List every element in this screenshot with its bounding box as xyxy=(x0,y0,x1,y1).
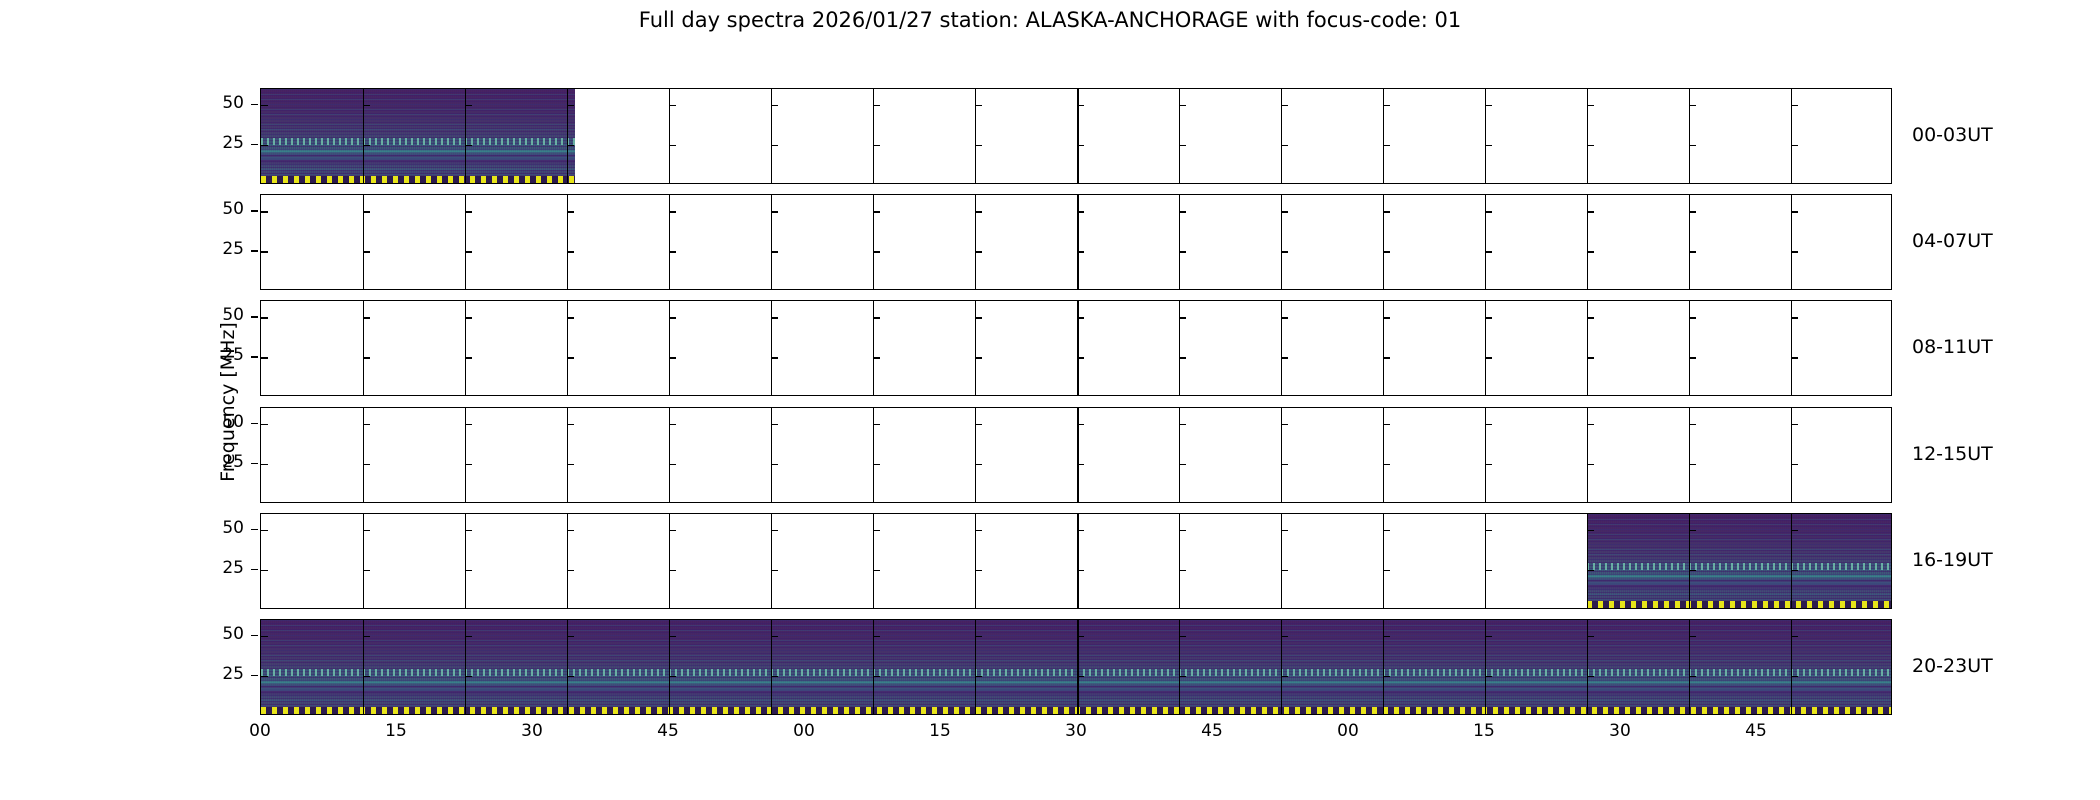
subpanel-divider xyxy=(1281,195,1282,289)
y-axis-tick xyxy=(251,104,258,105)
y-tick-mark xyxy=(975,530,982,531)
y-tick-mark xyxy=(669,676,676,677)
y-tick-mark xyxy=(873,357,880,358)
x-tick-label: 30 xyxy=(502,723,562,740)
y-tick-label-50: 50 xyxy=(204,414,244,431)
y-tick-mark xyxy=(1179,317,1186,318)
y-tick-mark xyxy=(1485,357,1492,358)
y-tick-label-25: 25 xyxy=(204,560,244,577)
y-tick-mark xyxy=(1077,211,1084,212)
y-tick-mark xyxy=(1791,424,1798,425)
y-tick-mark xyxy=(1791,636,1798,637)
y-tick-mark xyxy=(771,464,778,465)
y-tick-mark xyxy=(1281,464,1288,465)
y-axis-tick xyxy=(251,675,258,676)
y-tick-mark xyxy=(1791,570,1798,571)
y-tick-mark xyxy=(771,317,778,318)
y-tick-mark xyxy=(1689,676,1696,677)
y-tick-mark xyxy=(873,636,880,637)
y-tick-mark xyxy=(873,676,880,677)
y-tick-mark xyxy=(1383,530,1390,531)
spectrogram-row-08-11ut[interactable] xyxy=(260,300,1892,396)
subpanel-divider xyxy=(567,408,568,502)
y-tick-mark xyxy=(1791,211,1798,212)
y-axis-tick xyxy=(251,529,258,530)
subpanel-divider xyxy=(1791,301,1792,395)
subpanel-divider xyxy=(465,514,466,608)
subpanel-divider xyxy=(669,89,670,183)
row-label-00-03ut: 00-03UT xyxy=(1912,126,1993,145)
subpanel-divider xyxy=(1689,195,1690,289)
y-tick-mark xyxy=(873,424,880,425)
y-tick-mark xyxy=(1587,251,1594,252)
spectrogram-row-20-23ut[interactable] xyxy=(260,619,1892,715)
y-tick-mark xyxy=(465,211,472,212)
subpanel-divider xyxy=(771,89,772,183)
y-tick-mark xyxy=(1281,424,1288,425)
y-tick-mark xyxy=(975,317,982,318)
y-tick-mark xyxy=(261,530,268,531)
axes-area: Frequency [MHz] 502550255025502550255025 xyxy=(260,88,1892,715)
y-tick-mark xyxy=(1179,464,1186,465)
y-tick-mark xyxy=(1281,357,1288,358)
y-tick-mark xyxy=(1485,317,1492,318)
subpanel-divider xyxy=(1179,301,1180,395)
y-tick-mark xyxy=(1179,251,1186,252)
y-tick-mark xyxy=(1587,211,1594,212)
subpanel-divider xyxy=(873,89,874,183)
y-tick-mark xyxy=(1179,424,1186,425)
y-tick-mark xyxy=(1689,570,1696,571)
row-label-08-11ut: 08-11UT xyxy=(1912,338,1993,357)
subpanel-divider xyxy=(669,408,670,502)
y-tick-mark xyxy=(465,357,472,358)
subpanel-divider xyxy=(873,195,874,289)
subpanel-divider xyxy=(669,514,670,608)
y-tick-mark xyxy=(1791,530,1798,531)
subpanel-divider xyxy=(1485,89,1486,183)
subpanel-divider xyxy=(873,620,874,714)
x-tick-label: 00 xyxy=(1318,723,1378,740)
subpanel-divider xyxy=(1077,620,1079,714)
y-tick-mark xyxy=(975,424,982,425)
y-tick-mark xyxy=(1077,424,1084,425)
x-tick-label: 15 xyxy=(366,723,426,740)
y-tick-mark xyxy=(363,105,370,106)
y-tick-mark xyxy=(669,211,676,212)
y-tick-mark xyxy=(1485,105,1492,106)
emission-band-27mhz xyxy=(1587,563,1892,570)
spectrogram-data xyxy=(261,89,575,183)
subpanel-divider xyxy=(363,514,364,608)
subpanel-divider xyxy=(1383,514,1384,608)
y-tick-mark xyxy=(1689,145,1696,146)
y-tick-mark xyxy=(1179,145,1186,146)
y-tick-mark xyxy=(567,636,574,637)
y-tick-mark xyxy=(669,105,676,106)
y-tick-mark xyxy=(363,145,370,146)
y-tick-mark xyxy=(1383,424,1390,425)
subpanel-divider xyxy=(771,514,772,608)
subpanel-divider xyxy=(1179,195,1180,289)
subpanel-divider xyxy=(363,408,364,502)
y-tick-mark xyxy=(567,530,574,531)
subpanel-divider xyxy=(1689,620,1690,714)
subpanel-divider xyxy=(363,89,364,183)
y-axis-tick xyxy=(251,144,258,145)
y-tick-mark xyxy=(1383,251,1390,252)
y-tick-mark xyxy=(1281,251,1288,252)
emission-band-27mhz xyxy=(261,138,575,145)
row-label-04-07ut: 04-07UT xyxy=(1912,232,1993,251)
subpanel-divider xyxy=(669,620,670,714)
subpanel-divider xyxy=(1587,195,1588,289)
spectrogram-row-16-19ut[interactable] xyxy=(260,513,1892,609)
subpanel-divider xyxy=(1179,408,1180,502)
y-tick-mark xyxy=(363,317,370,318)
y-axis-tick xyxy=(251,423,258,424)
subpanel-divider xyxy=(465,89,466,183)
y-tick-mark xyxy=(1077,317,1084,318)
y-tick-mark xyxy=(1689,105,1696,106)
x-tick-label: 45 xyxy=(1726,723,1786,740)
y-tick-mark xyxy=(1179,530,1186,531)
y-tick-mark xyxy=(1689,530,1696,531)
y-tick-mark xyxy=(1179,636,1186,637)
subpanel-divider xyxy=(1791,195,1792,289)
y-tick-mark xyxy=(567,251,574,252)
subpanel-divider xyxy=(465,195,466,289)
subpanel-divider xyxy=(1077,301,1079,395)
y-tick-mark xyxy=(261,105,268,106)
y-tick-mark xyxy=(669,317,676,318)
spectrogram-row-12-15ut[interactable] xyxy=(260,407,1892,503)
x-tick-label: 15 xyxy=(910,723,970,740)
y-tick-mark xyxy=(1077,105,1084,106)
y-tick-mark xyxy=(261,317,268,318)
emission-band-21mhz xyxy=(261,149,575,154)
subpanel-divider xyxy=(1077,89,1079,183)
y-tick-mark xyxy=(1791,251,1798,252)
y-tick-label-25: 25 xyxy=(204,135,244,152)
subpanel-divider xyxy=(1281,620,1282,714)
subpanel-divider xyxy=(1689,89,1690,183)
y-tick-mark xyxy=(975,570,982,571)
y-tick-mark xyxy=(465,530,472,531)
subpanel-divider xyxy=(771,301,772,395)
y-tick-mark xyxy=(363,464,370,465)
y-tick-mark xyxy=(1689,464,1696,465)
spectrogram-noise-texture xyxy=(261,89,575,183)
y-tick-label-50: 50 xyxy=(204,307,244,324)
y-tick-mark xyxy=(567,676,574,677)
subpanel-divider xyxy=(363,301,364,395)
y-tick-mark xyxy=(1281,530,1288,531)
subpanel-divider xyxy=(873,301,874,395)
spectrogram-noise-texture xyxy=(1587,514,1892,608)
y-tick-mark xyxy=(1383,464,1390,465)
y-tick-label-25: 25 xyxy=(204,241,244,258)
subpanel-divider xyxy=(1383,408,1384,502)
y-tick-label-25: 25 xyxy=(204,454,244,471)
subpanel-divider xyxy=(669,195,670,289)
y-tick-mark xyxy=(1791,317,1798,318)
y-tick-label-50: 50 xyxy=(204,520,244,537)
subpanel-divider xyxy=(1689,408,1690,502)
subpanel-divider xyxy=(1689,301,1690,395)
y-tick-mark xyxy=(567,211,574,212)
y-tick-mark xyxy=(261,464,268,465)
subpanel-divider xyxy=(1587,89,1588,183)
y-tick-label-50: 50 xyxy=(204,201,244,218)
y-tick-mark xyxy=(873,211,880,212)
y-tick-mark xyxy=(1281,570,1288,571)
y-tick-mark xyxy=(873,105,880,106)
y-tick-mark xyxy=(1179,676,1186,677)
x-tick-label: 45 xyxy=(1182,723,1242,740)
y-tick-mark xyxy=(261,424,268,425)
x-tick-label: 30 xyxy=(1046,723,1106,740)
y-tick-mark xyxy=(261,636,268,637)
y-tick-mark xyxy=(669,530,676,531)
subpanel-divider xyxy=(873,514,874,608)
y-tick-mark xyxy=(975,676,982,677)
y-tick-mark xyxy=(1077,251,1084,252)
y-tick-mark xyxy=(1791,464,1798,465)
y-tick-mark xyxy=(363,357,370,358)
y-tick-mark xyxy=(1689,636,1696,637)
y-tick-mark xyxy=(1383,145,1390,146)
figure-title: Full day spectra 2026/01/27 station: ALA… xyxy=(0,8,2100,32)
y-tick-mark xyxy=(1383,317,1390,318)
y-tick-mark xyxy=(1689,424,1696,425)
row-label-16-19ut: 16-19UT xyxy=(1912,551,1993,570)
subpanel-divider xyxy=(1281,408,1282,502)
y-tick-mark xyxy=(363,530,370,531)
y-tick-mark xyxy=(873,570,880,571)
y-tick-mark xyxy=(1689,211,1696,212)
y-tick-mark xyxy=(1587,676,1594,677)
y-tick-mark xyxy=(975,636,982,637)
y-tick-mark xyxy=(1689,251,1696,252)
y-tick-mark xyxy=(771,251,778,252)
row-label-12-15ut: 12-15UT xyxy=(1912,445,1993,464)
y-tick-label-25: 25 xyxy=(204,347,244,364)
y-tick-mark xyxy=(1485,424,1492,425)
y-tick-mark xyxy=(669,251,676,252)
subpanel-divider xyxy=(567,195,568,289)
y-tick-mark xyxy=(1587,530,1594,531)
subpanel-divider xyxy=(465,408,466,502)
y-tick-mark xyxy=(975,464,982,465)
y-tick-mark xyxy=(1077,464,1084,465)
y-tick-mark xyxy=(567,357,574,358)
subpanel-divider xyxy=(1485,620,1486,714)
y-tick-mark xyxy=(465,105,472,106)
subpanel-divider xyxy=(771,195,772,289)
subpanel-divider xyxy=(1281,89,1282,183)
y-tick-label-25: 25 xyxy=(204,666,244,683)
subpanel-divider xyxy=(975,301,976,395)
y-tick-mark xyxy=(363,251,370,252)
subpanel-divider xyxy=(1485,195,1486,289)
y-tick-mark xyxy=(1587,424,1594,425)
subpanel-divider xyxy=(567,620,568,714)
y-tick-mark xyxy=(1791,105,1798,106)
y-axis-tick xyxy=(251,463,258,464)
y-tick-mark xyxy=(261,357,268,358)
y-tick-mark xyxy=(567,424,574,425)
y-tick-mark xyxy=(771,211,778,212)
subpanel-divider xyxy=(1485,408,1486,502)
subpanel-divider xyxy=(1179,89,1180,183)
y-tick-mark xyxy=(1587,570,1594,571)
y-tick-mark xyxy=(1383,211,1390,212)
y-tick-mark xyxy=(1587,317,1594,318)
y-tick-mark xyxy=(363,570,370,571)
y-tick-mark xyxy=(1587,464,1594,465)
y-tick-mark xyxy=(1485,530,1492,531)
subpanel-divider xyxy=(567,301,568,395)
y-tick-mark xyxy=(771,676,778,677)
y-tick-mark xyxy=(465,464,472,465)
subpanel-divider xyxy=(1281,301,1282,395)
y-tick-mark xyxy=(873,145,880,146)
subpanel-divider xyxy=(1281,514,1282,608)
y-tick-mark xyxy=(261,211,268,212)
row-label-20-23ut: 20-23UT xyxy=(1912,657,1993,676)
emission-band-21mhz xyxy=(1587,574,1892,579)
spectrogram-row-00-03ut[interactable] xyxy=(260,88,1892,184)
y-tick-mark xyxy=(567,570,574,571)
y-tick-mark xyxy=(1281,105,1288,106)
y-tick-mark xyxy=(771,570,778,571)
subpanel-divider xyxy=(1383,620,1384,714)
y-tick-mark xyxy=(363,424,370,425)
y-tick-mark xyxy=(975,251,982,252)
y-tick-mark xyxy=(771,530,778,531)
y-tick-mark xyxy=(975,357,982,358)
y-tick-mark xyxy=(771,357,778,358)
y-tick-mark xyxy=(1485,636,1492,637)
y-tick-mark xyxy=(465,570,472,571)
y-tick-mark xyxy=(771,145,778,146)
subpanel-divider xyxy=(975,514,976,608)
y-tick-mark xyxy=(669,424,676,425)
y-tick-mark xyxy=(1485,251,1492,252)
y-tick-mark xyxy=(1281,145,1288,146)
spectrogram-row-04-07ut[interactable] xyxy=(260,194,1892,290)
spectrogram-figure: Full day spectra 2026/01/27 station: ALA… xyxy=(0,0,2100,800)
subpanel-divider xyxy=(1077,195,1079,289)
emission-band-17mhz xyxy=(261,156,575,160)
y-tick-mark xyxy=(1791,676,1798,677)
y-tick-mark xyxy=(1077,145,1084,146)
x-tick-label: 15 xyxy=(1454,723,1514,740)
subpanel-divider xyxy=(975,408,976,502)
subpanel-divider xyxy=(1383,195,1384,289)
y-tick-mark xyxy=(363,676,370,677)
y-tick-mark xyxy=(1485,211,1492,212)
subpanel-divider xyxy=(1791,408,1792,502)
y-tick-mark xyxy=(465,636,472,637)
subpanel-divider xyxy=(1587,301,1588,395)
x-tick-label: 45 xyxy=(638,723,698,740)
subpanel-divider xyxy=(363,620,364,714)
y-axis-tick xyxy=(251,250,258,251)
y-tick-mark xyxy=(1179,570,1186,571)
subpanel-divider xyxy=(465,620,466,714)
y-tick-mark xyxy=(1587,145,1594,146)
y-tick-mark xyxy=(1077,357,1084,358)
subpanel-divider xyxy=(465,301,466,395)
subpanel-divider xyxy=(1485,301,1486,395)
y-tick-mark xyxy=(669,570,676,571)
y-tick-mark xyxy=(261,570,268,571)
y-axis-tick xyxy=(251,210,258,211)
subpanel-divider xyxy=(1689,514,1690,608)
y-tick-mark xyxy=(1077,636,1084,637)
y-tick-mark xyxy=(1179,211,1186,212)
y-tick-mark xyxy=(1791,145,1798,146)
y-tick-mark xyxy=(1689,317,1696,318)
y-tick-mark xyxy=(1077,530,1084,531)
y-tick-mark xyxy=(1281,676,1288,677)
y-tick-mark xyxy=(567,105,574,106)
subpanel-divider xyxy=(1179,514,1180,608)
y-axis-tick xyxy=(251,635,258,636)
y-tick-mark xyxy=(465,424,472,425)
y-tick-mark xyxy=(975,211,982,212)
y-tick-mark xyxy=(261,145,268,146)
y-tick-mark xyxy=(567,317,574,318)
y-tick-mark xyxy=(465,251,472,252)
subpanel-divider xyxy=(975,620,976,714)
subpanel-divider xyxy=(873,408,874,502)
y-tick-mark xyxy=(669,145,676,146)
y-tick-mark xyxy=(363,211,370,212)
y-tick-mark xyxy=(1383,105,1390,106)
y-tick-mark xyxy=(1587,636,1594,637)
y-tick-mark xyxy=(771,105,778,106)
subpanel-divider xyxy=(771,408,772,502)
subpanel-divider xyxy=(771,620,772,714)
y-tick-mark xyxy=(1587,105,1594,106)
y-tick-mark xyxy=(873,251,880,252)
subpanel-divider xyxy=(1077,408,1079,502)
y-tick-mark xyxy=(873,317,880,318)
y-tick-mark xyxy=(465,145,472,146)
subpanel-divider xyxy=(1383,89,1384,183)
subpanel-divider xyxy=(567,89,568,183)
subpanel-divider xyxy=(567,514,568,608)
y-tick-label-50: 50 xyxy=(204,626,244,643)
subpanel-divider xyxy=(1179,620,1180,714)
y-tick-mark xyxy=(363,636,370,637)
y-tick-mark xyxy=(1485,464,1492,465)
subpanel-divider xyxy=(1791,620,1792,714)
emission-band-17mhz xyxy=(1587,581,1892,585)
y-tick-mark xyxy=(465,317,472,318)
y-tick-mark xyxy=(873,464,880,465)
y-tick-mark xyxy=(567,145,574,146)
y-tick-mark xyxy=(1281,317,1288,318)
y-tick-mark xyxy=(1077,570,1084,571)
y-tick-mark xyxy=(1383,570,1390,571)
subpanel-divider xyxy=(1383,301,1384,395)
y-tick-mark xyxy=(771,636,778,637)
y-axis-tick xyxy=(251,356,258,357)
